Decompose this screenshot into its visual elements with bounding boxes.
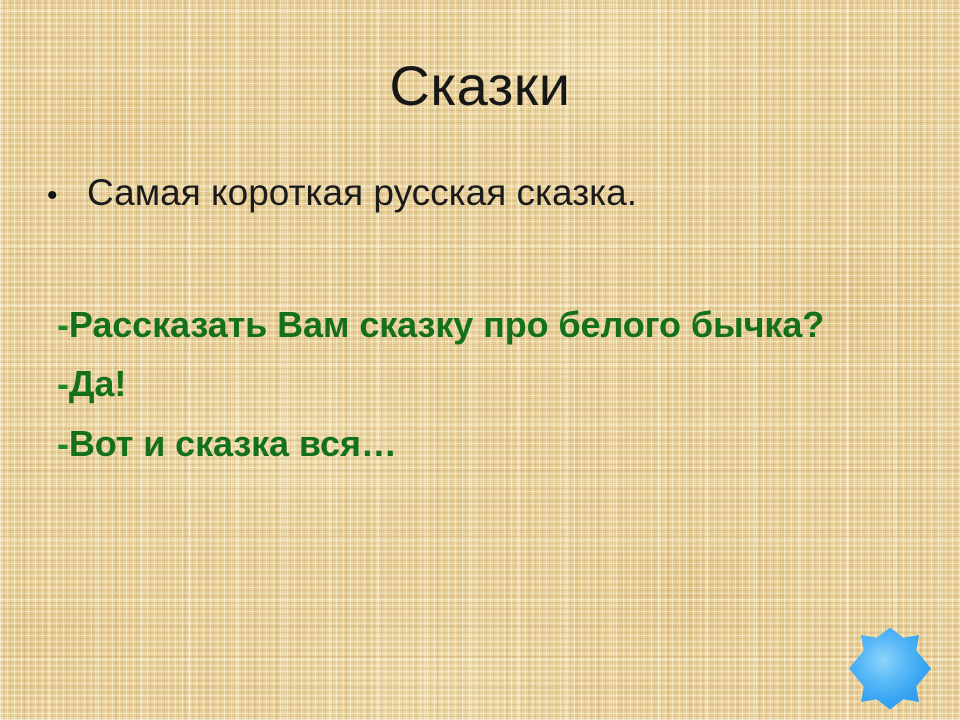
bullet-item-label: Самая короткая русская сказка. [87, 170, 927, 217]
dialogue-line-1: -Рассказать Вам сказку про белого бычка? [57, 295, 927, 355]
bullet-point-icon: • [47, 177, 87, 215]
page-title: Сказки [0, 55, 960, 117]
dialogue-text-3: Вот и сказка вся… [69, 423, 397, 464]
dialogue-text-1: Рассказать Вам сказку про белого бычка? [69, 304, 824, 345]
slide-canvas: Сказки • Самая короткая русская сказка. … [0, 0, 960, 720]
dialogue-block: -Рассказать Вам сказку про белого бычка?… [47, 295, 927, 474]
dialogue-dash-3: - [57, 423, 69, 464]
bullet-list-item: • Самая короткая русская сказка. [47, 170, 927, 217]
star-burst-shape [849, 624, 931, 713]
slide-body: • Самая короткая русская сказка. -Расска… [47, 170, 927, 474]
dialogue-text-2: Да! [69, 363, 126, 404]
dialogue-line-2: -Да! [57, 354, 927, 414]
dialogue-dash-2: - [57, 363, 69, 404]
dialogue-dash-1: - [57, 304, 69, 345]
dialogue-line-3: -Вот и сказка вся… [57, 414, 927, 474]
star-burst-icon [849, 624, 931, 713]
